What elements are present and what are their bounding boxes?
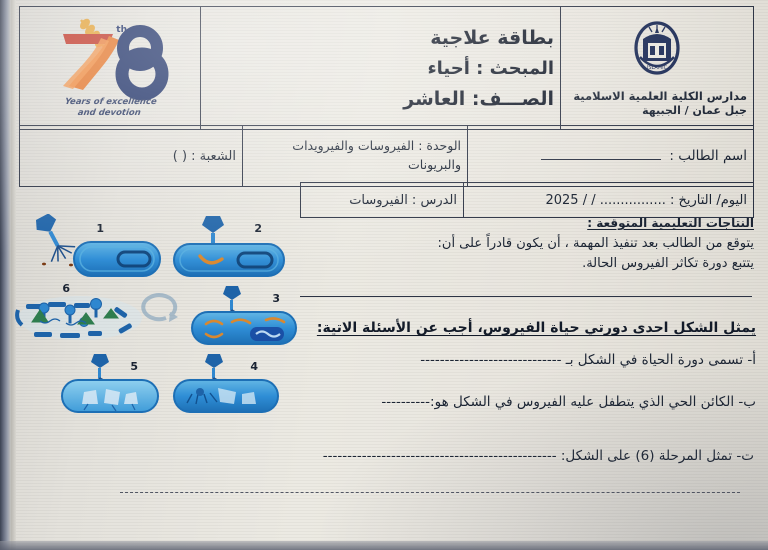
stage-number-2: 2: [254, 222, 262, 235]
anniversary-logo: th Years of excellence and devotion: [35, 14, 185, 122]
cycle-arrow-icon: [143, 295, 178, 322]
logo-tagline-line1: Years of excellence: [64, 97, 157, 107]
question-b[interactable]: ب- الكائن الحي الذي يتطفل عليه الفيروس ف…: [300, 392, 756, 412]
answer-line-second[interactable]: [120, 492, 740, 493]
stage-number-6: 6: [62, 282, 70, 295]
section-cell[interactable]: الشعبة : ( ): [20, 126, 243, 187]
anniversary-logo-cell: th Years of excellence and devotion: [20, 7, 201, 130]
stage-number-3: 3: [272, 292, 280, 305]
scan-left-edge: [0, 0, 11, 550]
questions-section: يمثل الشكل احدى دورتي حياة الفيروس، أجب …: [300, 320, 756, 435]
question-a[interactable]: أ- تسمى دورة الحياة في الشكل بـ --------…: [300, 350, 756, 370]
outcomes-item: يتتبع دورة تكاثر الفيروس الحالة.: [300, 254, 754, 274]
unit-label-line2: والبريونات: [249, 156, 461, 175]
stage-number-1: 1: [96, 222, 104, 235]
info-row-2: اسم الطالب : الوحدة : الفيروسات والفيروي…: [20, 126, 754, 187]
stage-4-group: 4: [174, 354, 278, 412]
info-row-3: اليوم/ التاريخ : ................ / / 20…: [301, 183, 754, 218]
scan-bottom-edge: [0, 541, 768, 550]
school-emblem-cell: ISLAMIC مدارس الكلية العلمية الاسلامية ج…: [561, 7, 754, 130]
header-row: ISLAMIC مدارس الكلية العلمية الاسلامية ج…: [20, 7, 754, 130]
header-table: ISLAMIC مدارس الكلية العلمية الاسلامية ج…: [19, 6, 754, 130]
stage-6-group: 6: [17, 282, 142, 340]
virus-life-cycle-diagram: 1 2: [14, 214, 300, 420]
student-name-label: اسم الطالب :: [669, 148, 747, 164]
svg-text:th: th: [116, 25, 127, 35]
stage-1-group: 1: [31, 214, 160, 276]
student-name-blank[interactable]: [541, 148, 661, 160]
title-cell: بطاقة علاجية المبحث : أحياء الصـــف: الع…: [201, 7, 561, 130]
unit-label: الوحدة : الفيروسات والفيرويدات: [249, 137, 461, 156]
logo-tagline: Years of excellence and devotion: [34, 97, 187, 118]
stage-number-5: 5: [130, 360, 138, 373]
school-name: مدارس الكلية العلمية الاسلامية: [567, 88, 747, 105]
lesson-cell: الدرس : الفيروسات: [301, 183, 464, 218]
student-name-cell: اسم الطالب :: [468, 126, 754, 187]
outcomes-intro: يتوقع من الطالب بعد تنفيذ المهمة ، أن يك…: [300, 234, 754, 254]
subject-line: المبحث : أحياء: [207, 58, 554, 79]
section-divider: [300, 296, 752, 297]
date-cell[interactable]: اليوم/ التاريخ : ................ / / 20…: [464, 183, 754, 218]
question-c[interactable]: ت- تمثل المرحلة (6) على الشكل: ---------…: [18, 448, 754, 464]
stage-3-group: 3: [192, 286, 296, 344]
lytic-cycle-illustration: 1 2: [14, 214, 300, 420]
svg-text:ISLAMIC: ISLAMIC: [647, 65, 668, 71]
stage-2-group: 2: [174, 216, 284, 276]
school-crest-icon: ISLAMIC: [629, 19, 685, 79]
grade-line: الصـــف: العاشر: [207, 88, 554, 110]
school-branch: جبل عمان / الجبيهة: [567, 104, 747, 117]
page-title: بطاقة علاجية: [207, 27, 554, 49]
stage-number-4: 4: [250, 360, 258, 373]
questions-heading: يمثل الشكل احدى دورتي حياة الفيروس، أجب …: [300, 320, 756, 336]
logo-tagline-line2: and devotion: [77, 107, 141, 117]
stage-5-group: 5: [62, 354, 158, 412]
outcomes-title: النتاجات التعليمية المتوقعة :: [300, 216, 754, 230]
78-years-logo-icon: th: [35, 14, 185, 106]
unit-cell: الوحدة : الفيروسات والفيرويدات والبريونا…: [243, 126, 468, 187]
info-table-row2: اسم الطالب : الوحدة : الفيروسات والفيروي…: [19, 125, 754, 187]
learning-outcomes-section: النتاجات التعليمية المتوقعة : يتوقع من ا…: [300, 216, 754, 274]
info-table-row3: اليوم/ التاريخ : ................ / / 20…: [300, 182, 754, 218]
scanned-worksheet-page: ISLAMIC مدارس الكلية العلمية الاسلامية ج…: [0, 0, 768, 550]
